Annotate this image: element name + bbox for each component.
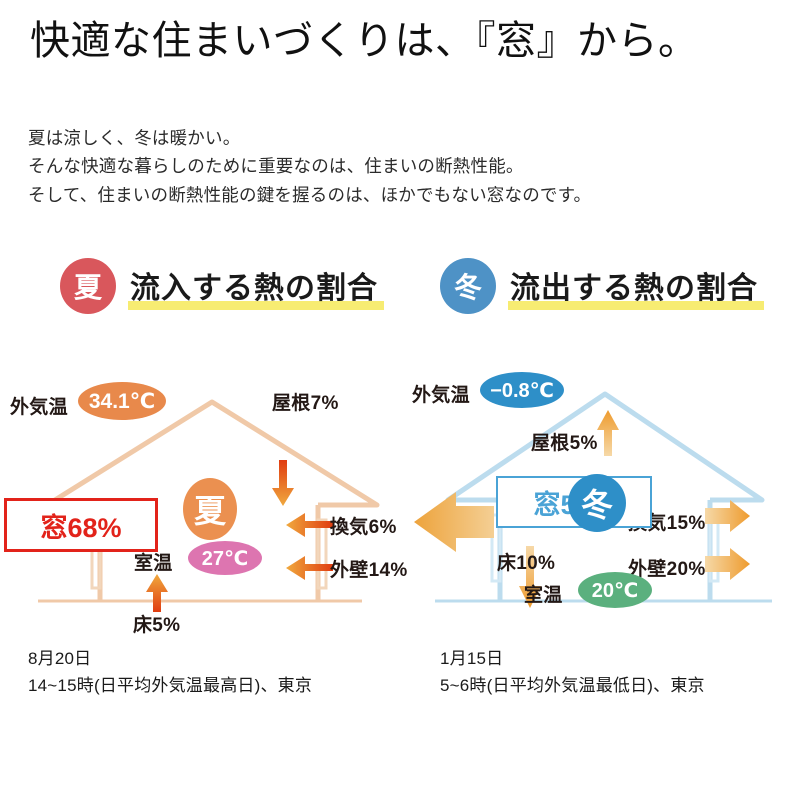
section-header-winter: 冬 流出する熱の割合 (440, 258, 762, 314)
label-roof-winter: 屋根5% (531, 428, 598, 455)
caption-summer-line-2: 14~15時(日平均外気温最高日)、東京 (28, 672, 312, 699)
label-roof-summer: 屋根7% (272, 388, 339, 415)
outside-temp-value-summer: 34.1℃ (78, 382, 166, 420)
outside-temp-value-winter: −0.8℃ (480, 372, 564, 408)
house-diagram-winter: 外気温 −0.8℃ 屋根5% 換気15% 外壁20% 床10% 窓50% 冬 室… (400, 360, 800, 640)
section-title-summer: 流入する熱の割合 (126, 263, 382, 309)
label-floor-summer: 床5% (133, 610, 180, 637)
season-watermark-summer: 夏 (183, 478, 237, 540)
season-badge-winter: 冬 (440, 258, 496, 314)
label-outerwall-summer: 外壁14% (330, 555, 408, 582)
caption-winter-line-2: 5~6時(日平均外気温最低日)、東京 (440, 672, 705, 699)
caption-winter-line-1: 1月15日 (440, 645, 705, 672)
page-title: 快適な住まいづくりは、『窓』から。 (30, 18, 775, 65)
label-ventilation-summer: 換気6% (330, 512, 397, 539)
season-badge-summer: 夏 (60, 258, 116, 314)
arrow-roof-winter (597, 410, 619, 456)
arrow-roof-summer (272, 460, 294, 506)
caption-winter: 1月15日 5~6時(日平均外気温最低日)、東京 (440, 645, 705, 699)
room-temp-value-summer: 27℃ (188, 541, 262, 575)
window-right-summer (318, 520, 326, 588)
caption-summer-line-1: 8月20日 (28, 645, 312, 672)
caption-summer: 8月20日 14~15時(日平均外気温最高日)、東京 (28, 645, 312, 699)
lead-line-3: そして、住まいの断熱性能の鍵を握るのは、ほかでもない窓なのです。 (28, 181, 778, 209)
window-share-box-summer: 窓68% (4, 498, 158, 552)
outside-temp-label-winter: 外気温 (412, 380, 470, 407)
infographic-page: 快適な住まいづくりは、『窓』から。 夏は涼しく、冬は暖かい。 そんな快適な暮らし… (0, 0, 800, 800)
season-watermark-winter: 冬 (568, 474, 626, 532)
lead-line-1: 夏は涼しく、冬は暖かい。 (28, 124, 778, 152)
label-floor-winter: 床10% (497, 548, 555, 575)
room-temp-value-winter: 20℃ (578, 572, 652, 608)
section-header-summer: 夏 流入する熱の割合 (60, 258, 382, 314)
section-title-winter: 流出する熱の割合 (506, 263, 762, 309)
lead-line-2: そんな快適な暮らしのために重要なのは、住まいの断熱性能。 (28, 152, 778, 180)
lead-paragraph: 夏は涼しく、冬は暖かい。 そんな快適な暮らしのために重要なのは、住まいの断熱性能… (28, 124, 778, 209)
outside-temp-label-summer: 外気温 (10, 392, 68, 419)
house-diagram-summer: 外気温 34.1℃ 屋根7% 換気6% 外壁14% 床5% 窓68% 夏 室温 … (0, 360, 400, 640)
room-temp-label-winter: 室温 (524, 580, 563, 607)
room-temp-label-summer: 室温 (134, 548, 173, 575)
arrow-floor-summer (146, 574, 168, 612)
